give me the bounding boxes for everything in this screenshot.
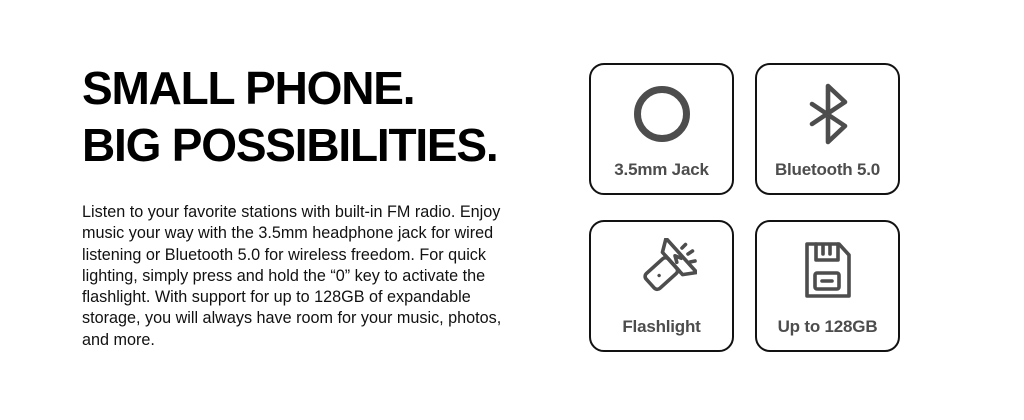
page-title: SMALL PHONE. BIG POSSIBILITIES. <box>82 60 552 174</box>
feature-card-jack[interactable]: 3.5mm Jack <box>589 63 734 195</box>
promo-banner: SMALL PHONE. BIG POSSIBILITIES. Listen t… <box>0 0 1024 420</box>
memory-card-icon <box>799 238 857 304</box>
bluetooth-icon <box>800 81 856 147</box>
feature-card-storage[interactable]: Up to 128GB <box>755 220 900 352</box>
feature-label-flashlight: Flashlight <box>591 317 732 337</box>
headline-line-2: BIG POSSIBILITIES. <box>82 117 552 174</box>
headphone-jack-ring-icon <box>631 81 693 147</box>
feature-label-bluetooth: Bluetooth 5.0 <box>757 160 898 180</box>
feature-card-bluetooth[interactable]: Bluetooth 5.0 <box>755 63 900 195</box>
feature-grid: 3.5mm Jack Bluetooth 5.0 <box>589 63 900 352</box>
feature-label-storage: Up to 128GB <box>757 317 898 337</box>
body-paragraph: Listen to your favorite stations with bu… <box>82 174 502 351</box>
copy-block: SMALL PHONE. BIG POSSIBILITIES. Listen t… <box>82 60 552 351</box>
headline-line-1: SMALL PHONE. <box>82 60 552 117</box>
flashlight-icon <box>627 238 697 304</box>
feature-label-jack: 3.5mm Jack <box>591 160 732 180</box>
feature-card-flashlight[interactable]: Flashlight <box>589 220 734 352</box>
